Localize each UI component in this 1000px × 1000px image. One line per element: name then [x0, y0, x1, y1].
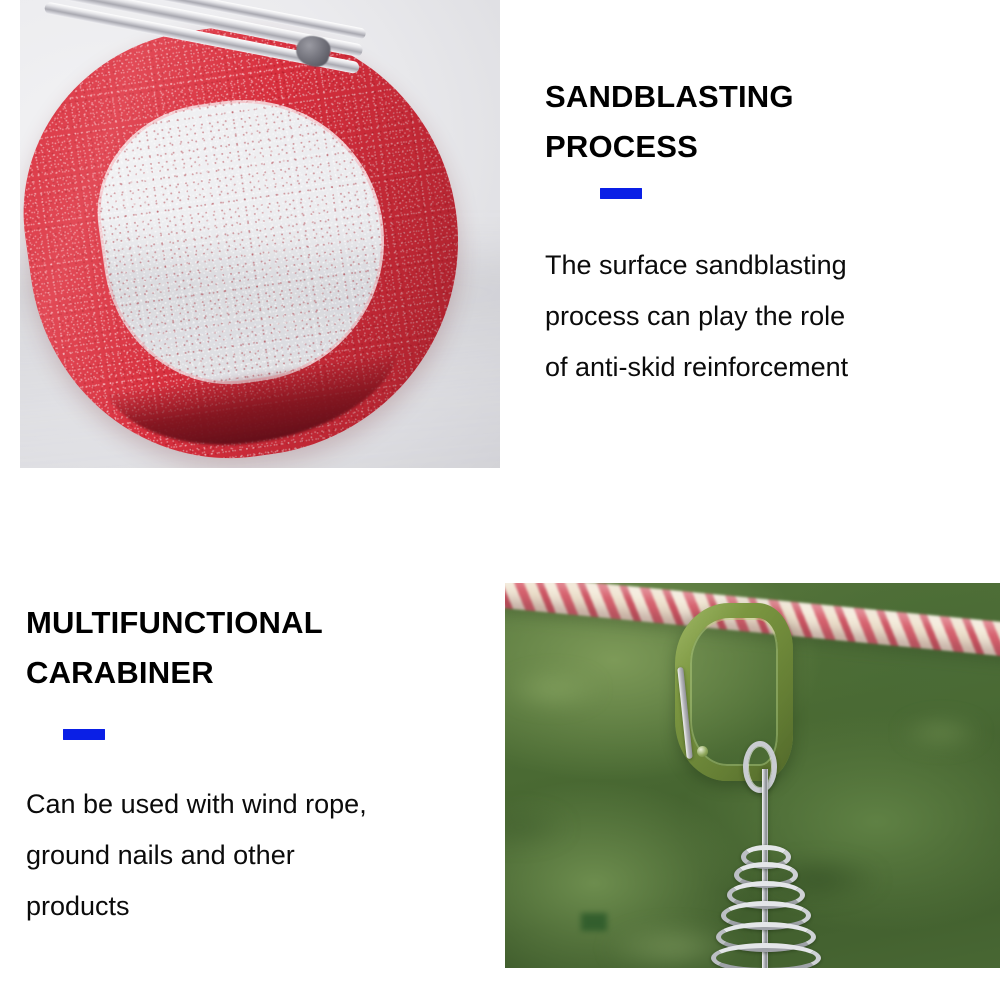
sandblasting-body-text: The surface sandblasting process can pla…: [545, 240, 975, 393]
multifunctional-body-text: Can be used with wind rope, ground nails…: [26, 779, 476, 932]
carabiner-green-body: [675, 603, 793, 781]
sandblasting-text-block: SANDBLASTING PROCESS The surface sandbla…: [545, 72, 975, 393]
split-ring: [743, 741, 777, 793]
grass-dark-patch: [581, 913, 607, 931]
sandblasting-accent-bar: [600, 188, 642, 199]
multifunctional-heading: MULTIFUNCTIONAL CARABINER: [26, 598, 476, 698]
ground-nail-spring: [710, 845, 822, 968]
multifunctional-accent-bar: [63, 729, 105, 740]
infographic-page: SANDBLASTING PROCESS The surface sandbla…: [0, 0, 1000, 1000]
sandblasting-heading: SANDBLASTING PROCESS: [545, 72, 975, 172]
green-carabiner-photo: [505, 583, 1000, 968]
multifunctional-text-block: MULTIFUNCTIONAL CARABINER Can be used wi…: [26, 598, 476, 932]
red-carabiner-photo: [20, 0, 500, 468]
carabiner-gate-rivet: [697, 746, 708, 757]
